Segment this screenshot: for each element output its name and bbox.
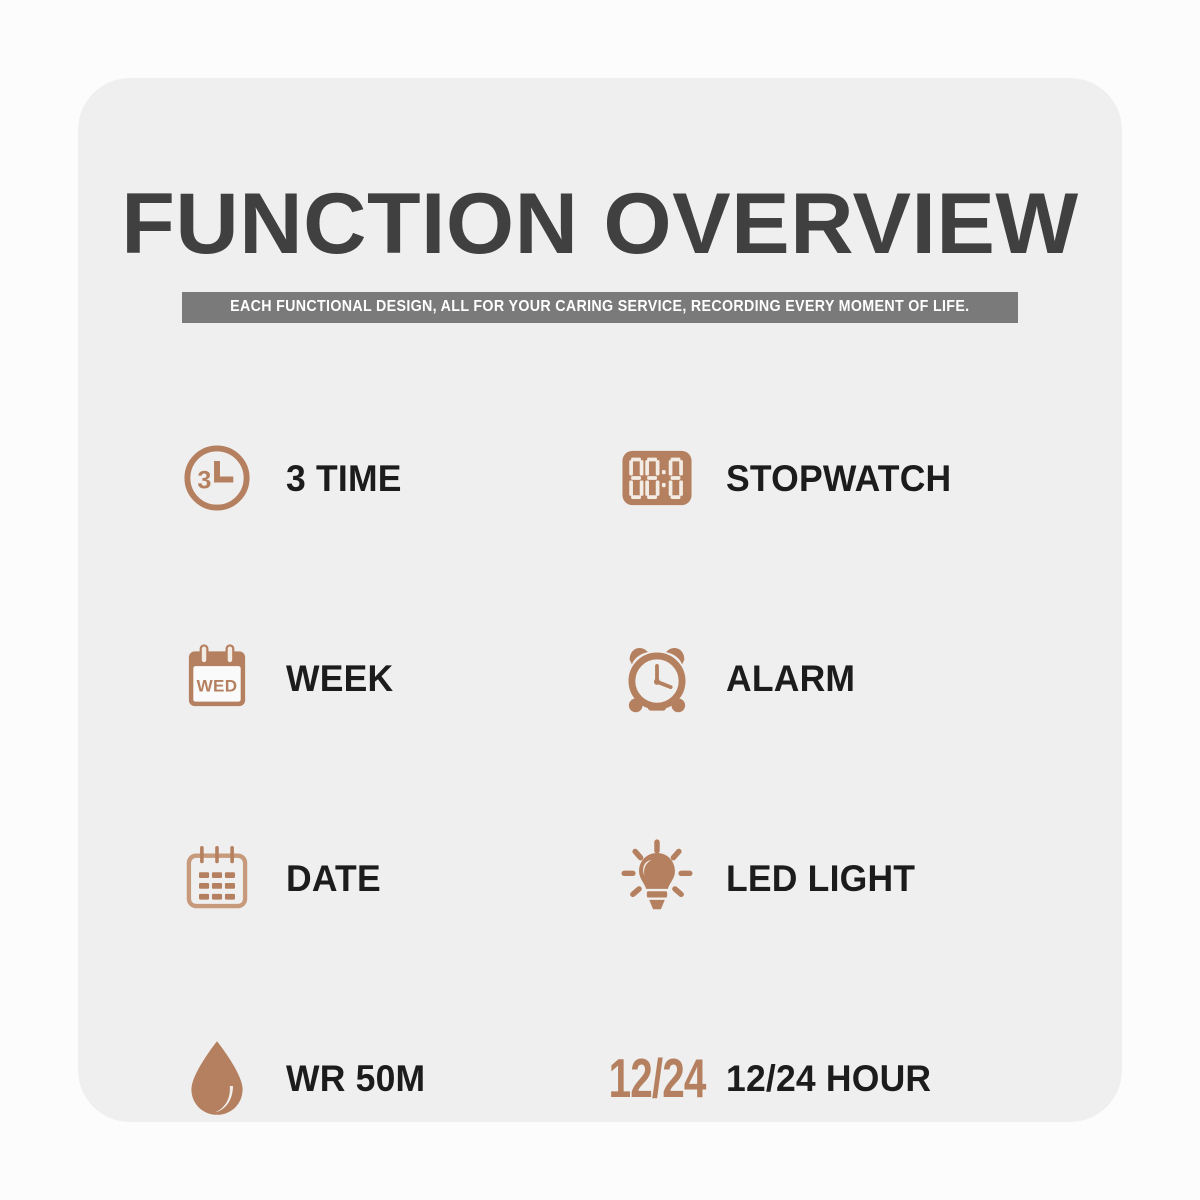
feature-label-week: WEEK [286,660,393,697]
feature-label-date: DATE [286,860,381,897]
feature-item-alarm[interactable]: ALARM [614,628,1026,728]
feature-card: FUNCTION OVERVIEW EACH FUNCTIONAL DESIGN… [78,78,1122,1122]
card-header: FUNCTION OVERVIEW EACH FUNCTIONAL DESIGN… [78,182,1122,323]
feature-label-alarm: ALARM [726,660,855,697]
feature-label-led-light: LED LIGHT [726,860,915,897]
feature-label-three-time: 3 TIME [286,460,402,497]
feature-label-hour-format: 12/24 HOUR [726,1060,931,1097]
feature-item-hour-format[interactable]: 12/24 12/24 HOUR [614,1028,1026,1128]
feature-item-stopwatch[interactable]: STOPWATCH [614,428,1026,528]
subtitle-banner: EACH FUNCTIONAL DESIGN, ALL FOR YOUR CAR… [182,292,1018,323]
water-drop-icon [174,1035,260,1121]
digital-display-icon [614,435,700,521]
clock-3-icon: 3 [174,435,260,521]
page-title: FUNCTION OVERVIEW [68,182,1133,266]
svg-text:3: 3 [197,466,211,494]
12-24-text-icon: 12/24 [614,1035,700,1121]
feature-label-stopwatch: STOPWATCH [726,460,951,497]
calendar-week-icon: WED [174,635,260,721]
page-root: FUNCTION OVERVIEW EACH FUNCTIONAL DESIGN… [0,0,1200,1200]
feature-item-water-resistance[interactable]: WR 50M [174,1028,614,1128]
feature-item-date[interactable]: DATE [174,828,614,928]
alarm-clock-icon [614,635,700,721]
12-24-icon-text: 12/24 [609,1051,706,1105]
calendar-grid-icon [174,835,260,921]
feature-item-three-time[interactable]: 3 3 TIME [174,428,614,528]
feature-item-week[interactable]: WED WEEK [174,628,614,728]
svg-text:WED: WED [197,676,238,695]
feature-grid: 3 3 TIME [174,378,1026,1178]
feature-item-led-light[interactable]: LED LIGHT [614,828,1026,928]
light-bulb-icon [614,835,700,921]
subtitle-text: EACH FUNCTIONAL DESIGN, ALL FOR YOUR CAR… [230,299,969,315]
feature-label-water-resistance: WR 50M [286,1060,425,1097]
